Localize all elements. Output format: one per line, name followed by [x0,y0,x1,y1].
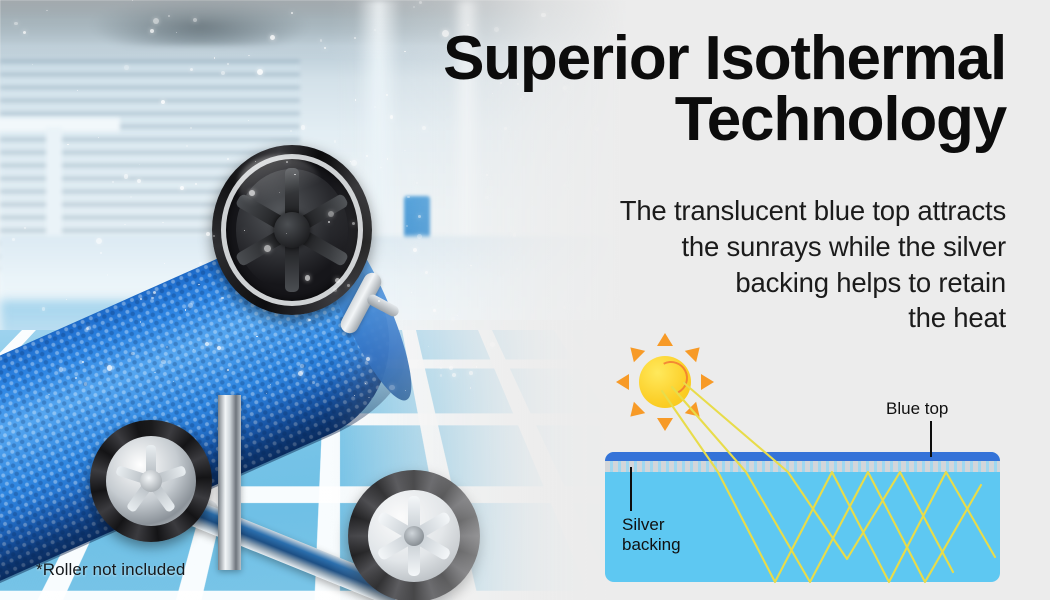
silver-backing-label: Silver backing [622,515,681,556]
description-line-2: the sunrays while the silver [446,229,1006,265]
page-title-line-1: Superior Isothermal [443,24,1006,93]
frame-post [218,395,241,570]
silver-backing-leader-line [630,467,632,511]
wheel-hub [274,212,310,248]
blue-top-label: Blue top [886,399,948,419]
description-line-1: The translucent blue top attracts [446,193,1006,229]
silver-backing-label-line-1: Silver [622,515,665,534]
blue-top-leader-line [930,421,932,457]
page-title: Superior Isothermal Technology [286,28,1006,151]
wheel-highlight [238,155,321,213]
promo-banner: *Roller not included Superior Isothermal… [0,0,1050,600]
footnote-disclaimer: *Roller not included [36,560,185,580]
silver-backing-label-line-2: backing [622,535,681,554]
description-line-3: backing helps to retain [446,265,1006,301]
cart-wheel-hub [140,470,162,492]
cart-wheel-hub [404,526,424,546]
cart-wheel-left [90,420,212,542]
page-title-line-2: Technology [286,89,1006,150]
description-text: The translucent blue top attracts the su… [446,193,1006,336]
isothermal-diagram: Blue top Silver backing [600,325,1000,590]
